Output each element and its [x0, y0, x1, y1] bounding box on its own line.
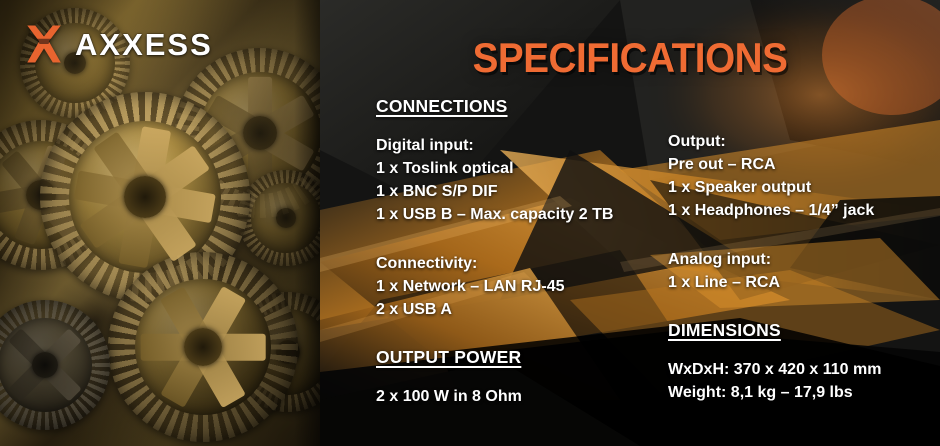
- gear-decoration: [238, 170, 320, 266]
- spec-item: Pre out – RCA: [668, 153, 936, 176]
- product-image-panel: AXXESS: [0, 0, 320, 446]
- x-mark-icon: [22, 22, 66, 66]
- output-dimensions-column: Output: Pre out – RCA 1 x Speaker output…: [668, 130, 936, 404]
- spec-item: 1 x Network – LAN RJ-45: [376, 275, 666, 298]
- dimensions-values: WxDxH: 370 x 420 x 110 mm Weight: 8,1 kg…: [668, 358, 936, 404]
- spec-item: 1 x Line – RCA: [668, 271, 936, 294]
- spec-item: 1 x Toslink optical: [376, 157, 666, 180]
- spec-item: Weight: 8,1 kg – 17,9 lbs: [668, 381, 936, 404]
- group-label: Digital input:: [376, 134, 666, 157]
- spec-item: WxDxH: 370 x 420 x 110 mm: [668, 358, 936, 381]
- spec-group-connectivity: Connectivity: 1 x Network – LAN RJ-45 2 …: [376, 252, 666, 321]
- spec-item: 1 x Headphones – 1/4” jack: [668, 199, 936, 222]
- spec-item: 2 x USB A: [376, 298, 666, 321]
- gear-decoration: [0, 300, 110, 430]
- spacer: [376, 321, 666, 347]
- spacer: [668, 294, 936, 320]
- output-power-value-group: 2 x 100 W in 8 Ohm: [376, 385, 666, 408]
- connections-column: CONNECTIONS Digital input: 1 x Toslink o…: [376, 96, 666, 408]
- group-label: Analog input:: [668, 248, 936, 271]
- spec-group-analog-input: Analog input: 1 x Line – RCA: [668, 248, 936, 294]
- clockwork-gears-photo: [0, 0, 320, 446]
- spec-item: 1 x Speaker output: [668, 176, 936, 199]
- group-label: Output:: [668, 130, 936, 153]
- spec-item: 1 x BNC S/P DIF: [376, 180, 666, 203]
- specifications-slide: AXXESS: [0, 0, 940, 446]
- section-heading-dimensions: DIMENSIONS: [668, 320, 936, 341]
- spec-group-digital-input: Digital input: 1 x Toslink optical 1 x B…: [376, 134, 666, 226]
- section-heading-output-power: OUTPUT POWER: [376, 347, 666, 368]
- section-heading-connections: CONNECTIONS: [376, 96, 666, 117]
- spec-item: 1 x USB B – Max. capacity 2 TB: [376, 203, 666, 226]
- spec-item: 2 x 100 W in 8 Ohm: [376, 385, 666, 408]
- spacer: [376, 226, 666, 252]
- brand-logo: AXXESS: [22, 22, 213, 66]
- page-title: SPECIFICATIONS: [345, 34, 915, 82]
- specifications-panel: SPECIFICATIONS CONNECTIONS Digital input…: [320, 0, 940, 446]
- brand-name: AXXESS: [75, 29, 213, 60]
- group-label: Connectivity:: [376, 252, 666, 275]
- gear-decoration: [108, 252, 298, 442]
- spec-group-output: Output: Pre out – RCA 1 x Speaker output…: [668, 130, 936, 222]
- spacer: [668, 222, 936, 248]
